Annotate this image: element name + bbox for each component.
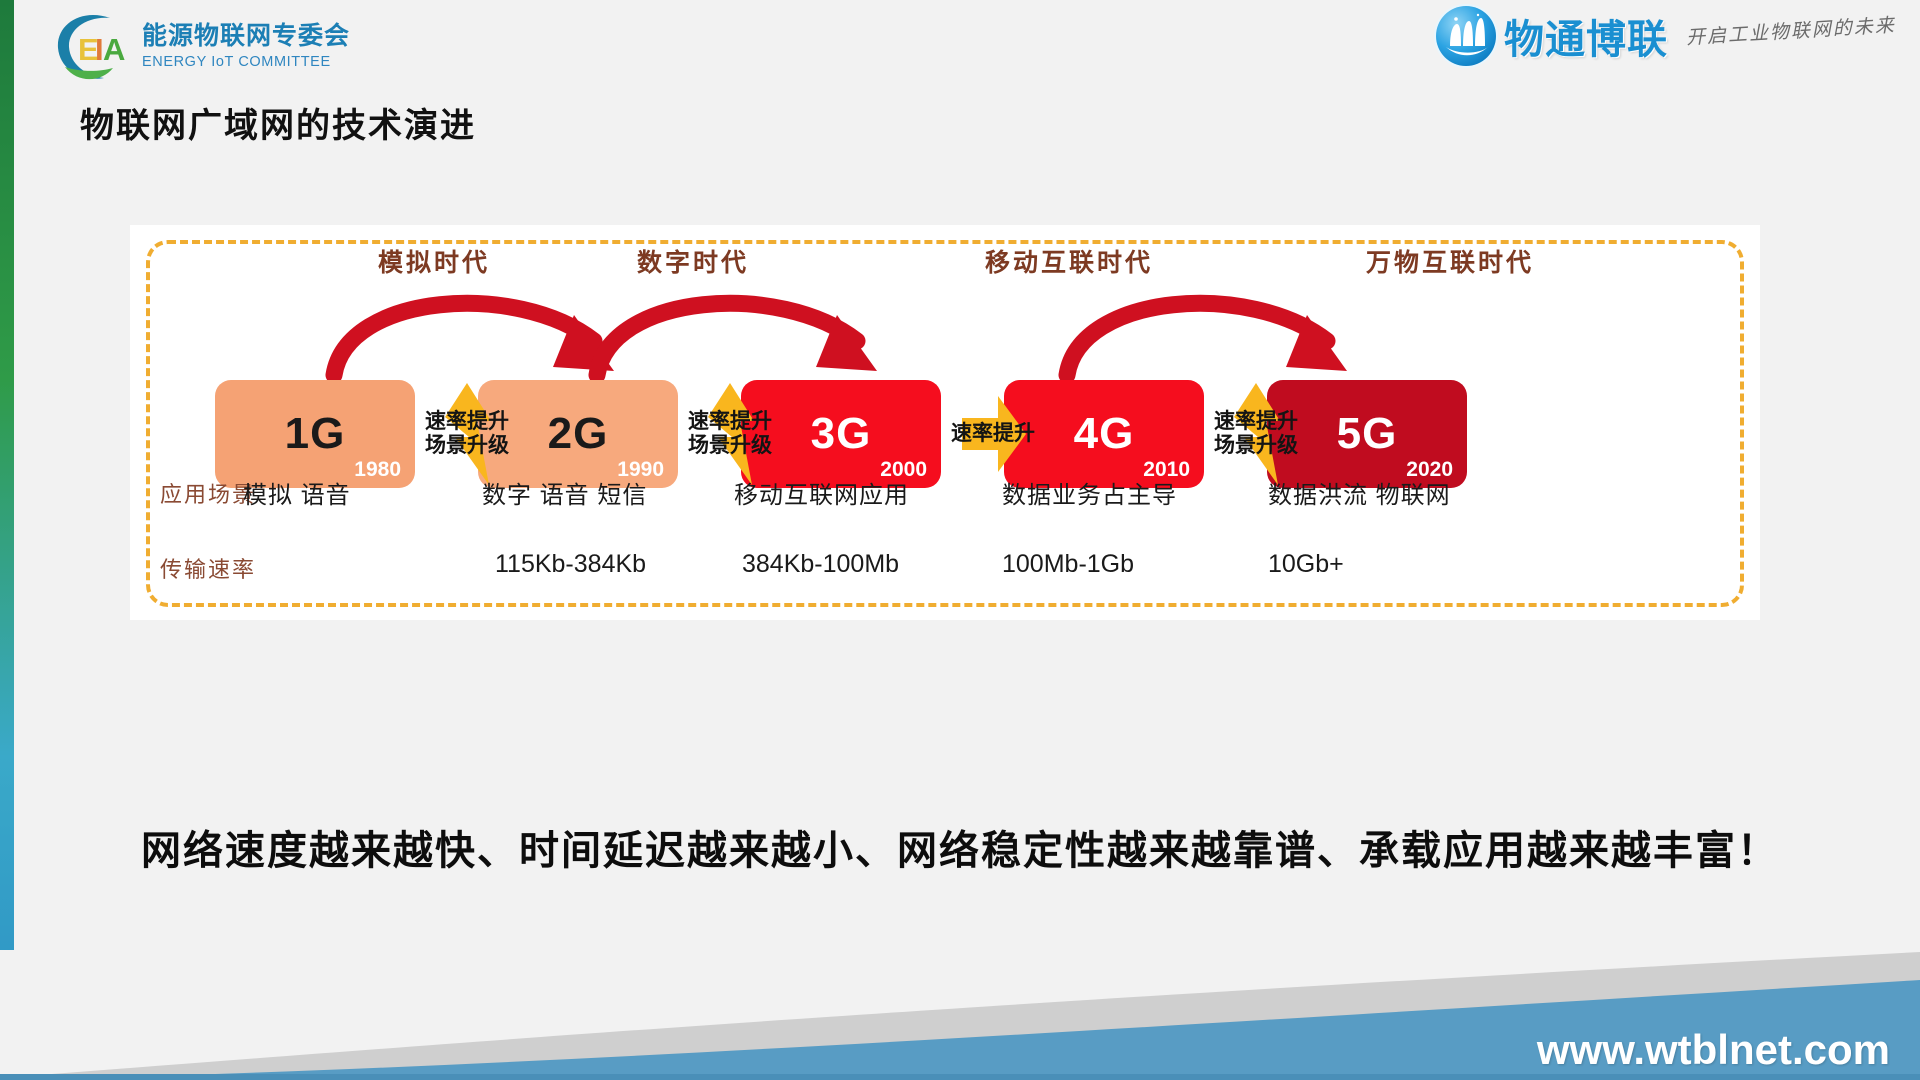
scenario-cell-4g: 数据业务占主导 xyxy=(1002,475,1177,510)
connector-text-1g-2g: 速率提升 场景升级 xyxy=(413,380,521,488)
diagram-card: 模拟时代 数字时代 移动互联时代 万物互联时代 1G 1980 2G 1990 … xyxy=(130,225,1760,620)
speed-cell-3g: 384Kb-100Mb xyxy=(742,550,899,579)
footer-website-url[interactable]: www.wtblnet.com xyxy=(1537,1026,1890,1074)
connector-line1: 速率提升 xyxy=(951,422,1035,446)
generation-label-1g: 1G xyxy=(285,409,346,459)
wtbl-brand-name: 物通博联 xyxy=(1504,7,1668,65)
header: E I A 能源物联网专委会 ENERGY IoT COMMITTEE 物通博联… xyxy=(0,0,1920,92)
scenario-cell-2g: 数字 语音 短信 xyxy=(482,475,647,510)
connector-line1: 速率提升 xyxy=(688,410,772,434)
era-label-iot: 万物互联时代 xyxy=(1366,243,1534,279)
generation-label-4g: 4G xyxy=(1074,409,1135,459)
ceia-committee-logo: E I A 能源物联网专委会 ENERGY IoT COMMITTEE xyxy=(52,10,350,84)
row-label-scenario: 应用场景 xyxy=(160,477,256,509)
connector-3g-4g: 速率提升 xyxy=(939,380,1047,488)
wtbl-slogan: 开启工业物联网的未来 xyxy=(1685,10,1896,50)
ceia-swoosh-icon: E I A xyxy=(52,10,134,84)
connector-line2: 场景升级 xyxy=(688,434,772,458)
wtbl-brand-logo: 物通博联 开启工业物联网的未来 xyxy=(1436,6,1896,66)
curve-arrow-2g-3g xyxy=(575,275,905,385)
connector-line1: 速率提升 xyxy=(425,410,509,434)
scenario-cell-1g: 模拟 语音 xyxy=(243,475,351,510)
scenario-cell-5g: 数据洪流 物联网 xyxy=(1268,475,1451,510)
speed-cell-2g: 115Kb-384Kb xyxy=(495,550,646,579)
scenario-cell-3g: 移动互联网应用 xyxy=(734,475,909,510)
connector-line1: 速率提升 xyxy=(1214,410,1298,434)
speed-cell-4g: 100Mb-1Gb xyxy=(1002,550,1134,579)
speed-cell-5g: 10Gb+ xyxy=(1268,550,1344,579)
curve-arrow-4g-5g xyxy=(1045,275,1375,385)
generation-label-5g: 5G xyxy=(1337,409,1398,459)
era-label-analog: 模拟时代 xyxy=(378,243,490,279)
connector-1g-2g: 速率提升 场景升级 xyxy=(413,380,521,488)
generation-label-3g: 3G xyxy=(811,409,872,459)
connector-text-4g-5g: 速率提升 场景升级 xyxy=(1202,380,1310,488)
generation-label-2g: 2G xyxy=(548,409,609,459)
connector-text-3g-4g: 速率提升 xyxy=(939,380,1047,488)
footer: www.wtblnet.com xyxy=(0,950,1920,1080)
era-label-mobile: 移动互联时代 xyxy=(985,243,1153,279)
ceia-name-cn: 能源物联网专委会 xyxy=(142,24,350,49)
ceia-logo-text: 能源物联网专委会 ENERGY IoT COMMITTEE xyxy=(142,24,350,70)
generation-box-1g[interactable]: 1G 1980 xyxy=(215,380,415,488)
generation-year-1g: 1980 xyxy=(354,458,401,482)
svg-text:A: A xyxy=(103,32,125,67)
summary-statement: 网络速度越来越快、时间延迟越来越小、网络稳定性越来越靠谱、承载应用越来越丰富！ xyxy=(0,818,1920,876)
row-label-speed: 传输速率 xyxy=(160,552,256,584)
connector-2g-3g: 速率提升 场景升级 xyxy=(676,380,784,488)
era-label-digital: 数字时代 xyxy=(637,243,749,279)
left-accent-bar xyxy=(0,0,14,1080)
ceia-name-en: ENERGY IoT COMMITTEE xyxy=(142,55,350,70)
connector-4g-5g: 速率提升 场景升级 xyxy=(1202,380,1310,488)
connector-line2: 场景升级 xyxy=(425,434,509,458)
wtbl-globe-icon xyxy=(1436,6,1496,66)
connector-text-2g-3g: 速率提升 场景升级 xyxy=(676,380,784,488)
connector-line2: 场景升级 xyxy=(1214,434,1298,458)
page-title: 物联网广域网的技术演进 xyxy=(80,98,476,147)
